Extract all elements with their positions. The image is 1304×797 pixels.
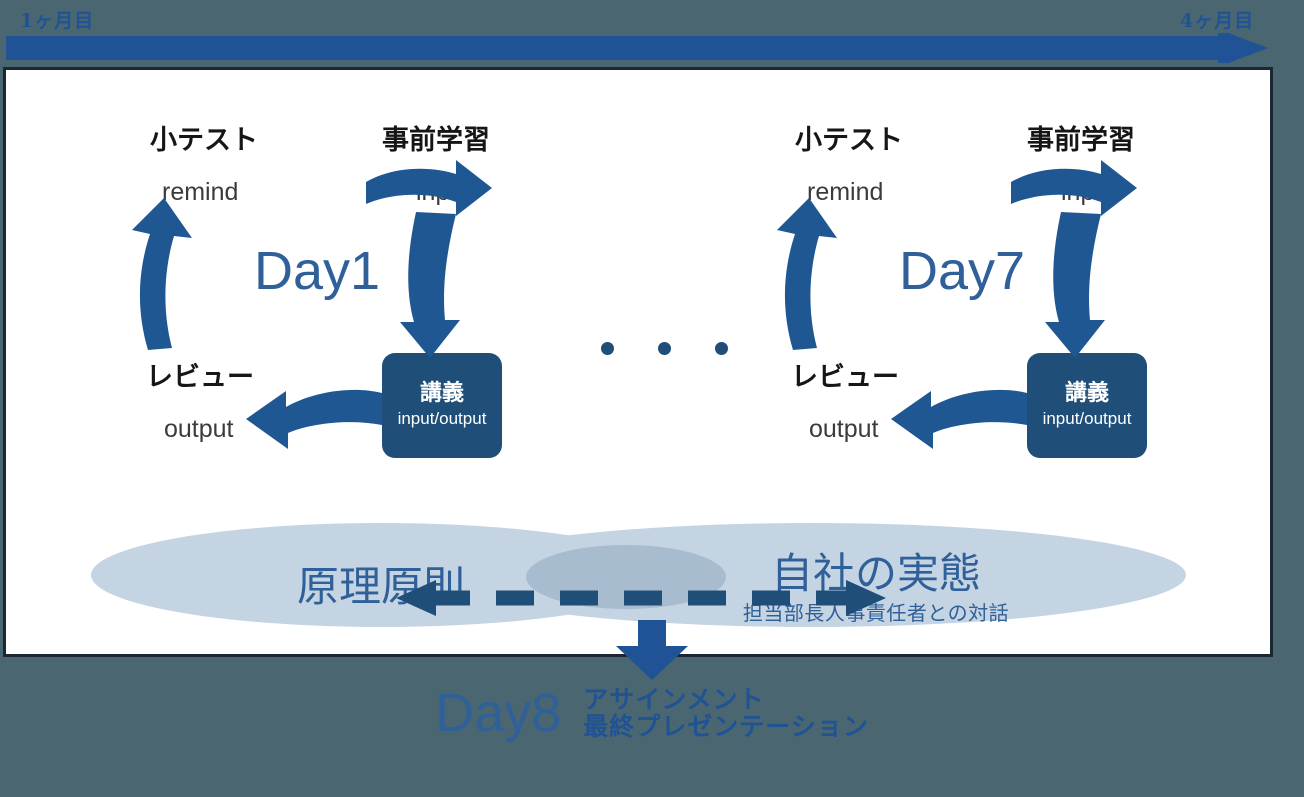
main-panel: 小テスト remind 事前学習 input レビュー output Day1 … (3, 67, 1273, 657)
cycle-day7-test-title: 小テスト (795, 118, 903, 157)
cycle-day1-lecture-box: 講義 input/output (382, 353, 502, 458)
timeline-arrow-icon (6, 33, 1268, 63)
diagram-canvas: 1ヶ月目 4ヶ月目 小テスト remind 事前学習 input レビュー ou… (0, 0, 1304, 797)
final-day-label: Day8 (435, 686, 561, 740)
cycle-day1-arrow-down-icon (398, 210, 468, 360)
cycle-day7-lecture-title: 講義 (1065, 382, 1109, 406)
venn-bidirectional-dashed-arrow-icon (396, 580, 886, 620)
final-line-1: アサインメント (583, 686, 869, 713)
cycle-day7-arrow-up-icon (773, 198, 843, 353)
final-text-lines: アサインメント 最終プレゼンテーション (583, 686, 869, 740)
cycle-day7-lecture-subtitle: input/output (1043, 410, 1132, 429)
continuation-dot-icon (715, 342, 728, 355)
final-line-2: 最終プレゼンテーション (583, 713, 869, 740)
timeline-start-label: 1ヶ月目 (20, 6, 94, 33)
timeline-end-label: 4ヶ月目 (1180, 6, 1254, 33)
final-down-arrow-icon (612, 620, 692, 680)
cycle-day7-review-title: レビュー (791, 355, 899, 394)
cycle-day7-arrow-left-icon (889, 375, 1029, 455)
cycle-day1-lecture-subtitle: input/output (398, 410, 487, 429)
continuation-dot-icon (601, 342, 614, 355)
cycle-day7-review-subtitle: output (809, 415, 879, 444)
cycle-day1-lecture-title: 講義 (420, 382, 464, 406)
final-assignment-group: Day8 アサインメント 最終プレゼンテーション (0, 686, 1304, 740)
cycle-day7-day-label: Day7 (899, 240, 1025, 302)
cycle-day1-prestudy-title: 事前学習 (382, 118, 490, 157)
cycle-day1-test-title: 小テスト (150, 118, 258, 157)
cycle-day7-prestudy-title: 事前学習 (1027, 118, 1135, 157)
cycle-day1: 小テスト remind 事前学習 input レビュー output Day1 … (106, 70, 526, 490)
cycle-day1-review-subtitle: output (164, 415, 234, 444)
cycle-day1-day-label: Day1 (254, 240, 380, 302)
cycle-day7: 小テスト remind 事前学習 input レビュー output Day7 … (751, 70, 1171, 490)
cycle-day1-review-title: レビュー (146, 355, 254, 394)
cycle-day1-arrow-up-icon (128, 198, 198, 353)
continuation-dots (601, 342, 741, 362)
cycle-day7-lecture-box: 講義 input/output (1027, 353, 1147, 458)
cycle-day1-arrow-left-icon (244, 375, 384, 455)
continuation-dot-icon (658, 342, 671, 355)
cycle-day7-arrow-down-icon (1043, 210, 1113, 360)
